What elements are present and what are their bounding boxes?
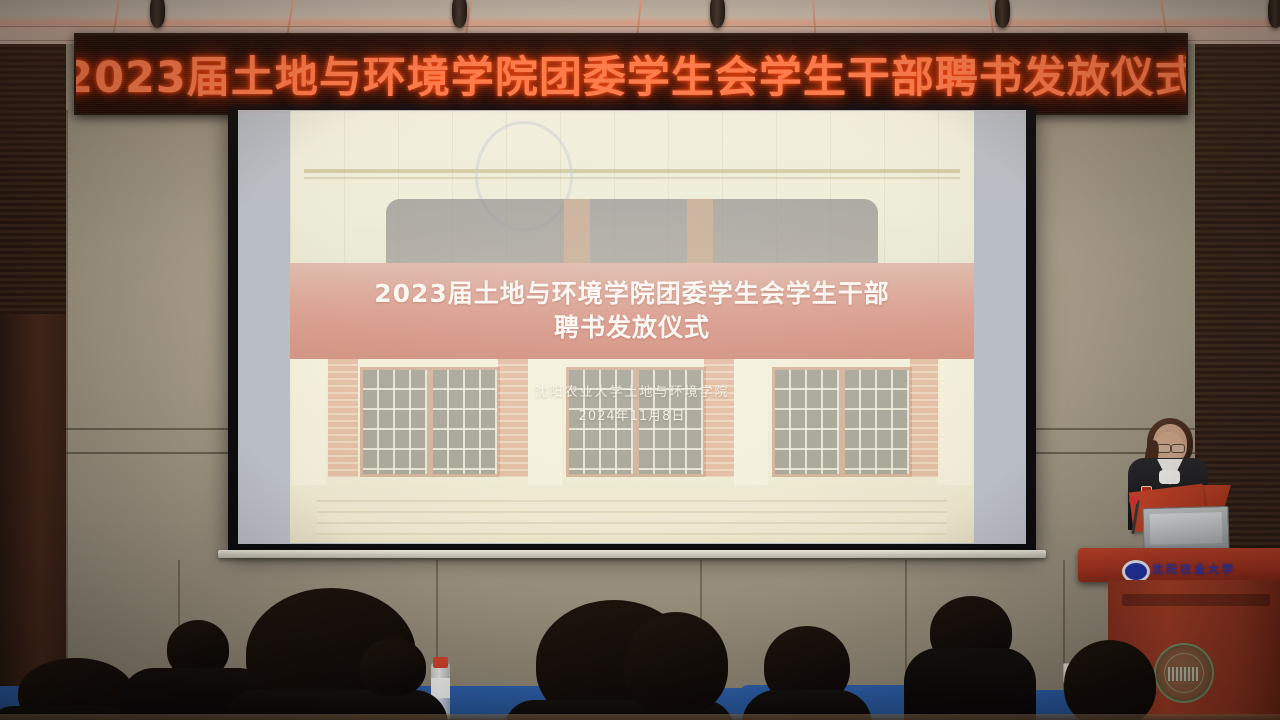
audience-shoulders — [904, 648, 1036, 720]
water-bottle-cap — [433, 657, 448, 668]
slide-bottom-facade: 沈阳农业大学土地与环境学院 2024年11月8日 — [290, 359, 974, 543]
led-banner: 2023届土地与环境学院团委学生会学生干部聘书发放仪式 — [74, 33, 1188, 115]
podium-inset — [1122, 594, 1270, 606]
slide-title-line-2: 聘书发放仪式 — [554, 313, 710, 344]
ceiling-spotlight — [150, 0, 165, 28]
slide-title-line-1: 2023届土地与环境学院团委学生会学生干部 — [374, 279, 890, 310]
slide-title-band: 2023届土地与环境学院团委学生会学生干部 聘书发放仪式 — [290, 263, 974, 359]
ceiling-spotlight — [1268, 0, 1280, 28]
slide-date: 2024年11月8日 — [290, 405, 974, 424]
table-edge — [0, 714, 1280, 720]
laptop — [1142, 506, 1229, 552]
screen-bottom-bar — [218, 550, 1046, 558]
slide-building-steps — [317, 491, 946, 537]
university-seal — [1154, 643, 1214, 703]
presentation-slide: 2023届土地与环境学院团委学生会学生干部 聘书发放仪式 — [290, 111, 974, 543]
slide-watermark-text — [550, 127, 750, 183]
louver-panel-left — [0, 44, 66, 314]
speaker-scarf — [1159, 470, 1180, 484]
audience-head — [1064, 640, 1156, 720]
photo-scene: 2023届土地与环境学院团委学生会学生干部聘书发放仪式 2023届土地与环境学院… — [0, 0, 1280, 720]
ceiling-spotlight — [452, 0, 467, 28]
led-banner-text: 2023届土地与环境学院团委学生会学生干部聘书发放仪式 — [74, 43, 1188, 105]
water-bottle-label — [431, 678, 450, 698]
audience-head — [624, 612, 728, 716]
slide-top-facade — [290, 111, 974, 263]
wall-seam — [66, 110, 68, 720]
audience-head — [360, 638, 426, 696]
ceiling-spotlight — [995, 0, 1010, 28]
slide-subtitle: 沈阳农业大学土地与环境学院 — [290, 381, 974, 400]
podium-org-text: 沈阳农业大学 — [1152, 561, 1274, 576]
microphone-head — [1129, 496, 1138, 505]
projection-screen: 2023届土地与环境学院团委学生会学生干部 聘书发放仪式 — [228, 104, 1036, 552]
speaker-glasses — [1157, 444, 1171, 453]
ceiling-spotlight — [710, 0, 725, 28]
speaker-glasses — [1171, 444, 1185, 453]
